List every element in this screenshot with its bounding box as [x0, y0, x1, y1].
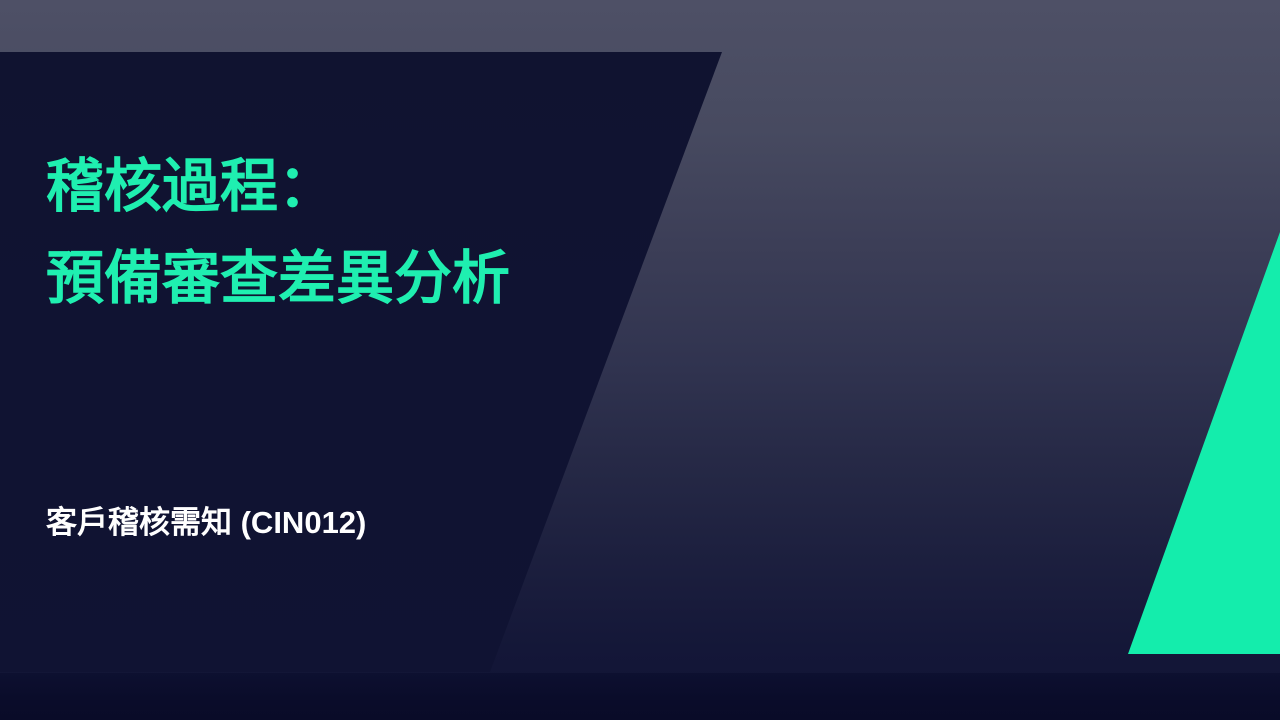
slide-subtitle: 客戶稽核需知 (CIN012) [46, 503, 366, 543]
title-slide: 稽核過程： 預備審查差異分析 客戶稽核需知 (CIN012) [0, 0, 1280, 720]
slide-title-line-1: 稽核過程： [46, 141, 686, 233]
bottom-dark-band-shape [0, 673, 1280, 720]
slide-title: 稽核過程： 預備審查差異分析 [46, 141, 686, 324]
slide-title-line-2: 預備審查差異分析 [46, 233, 686, 325]
